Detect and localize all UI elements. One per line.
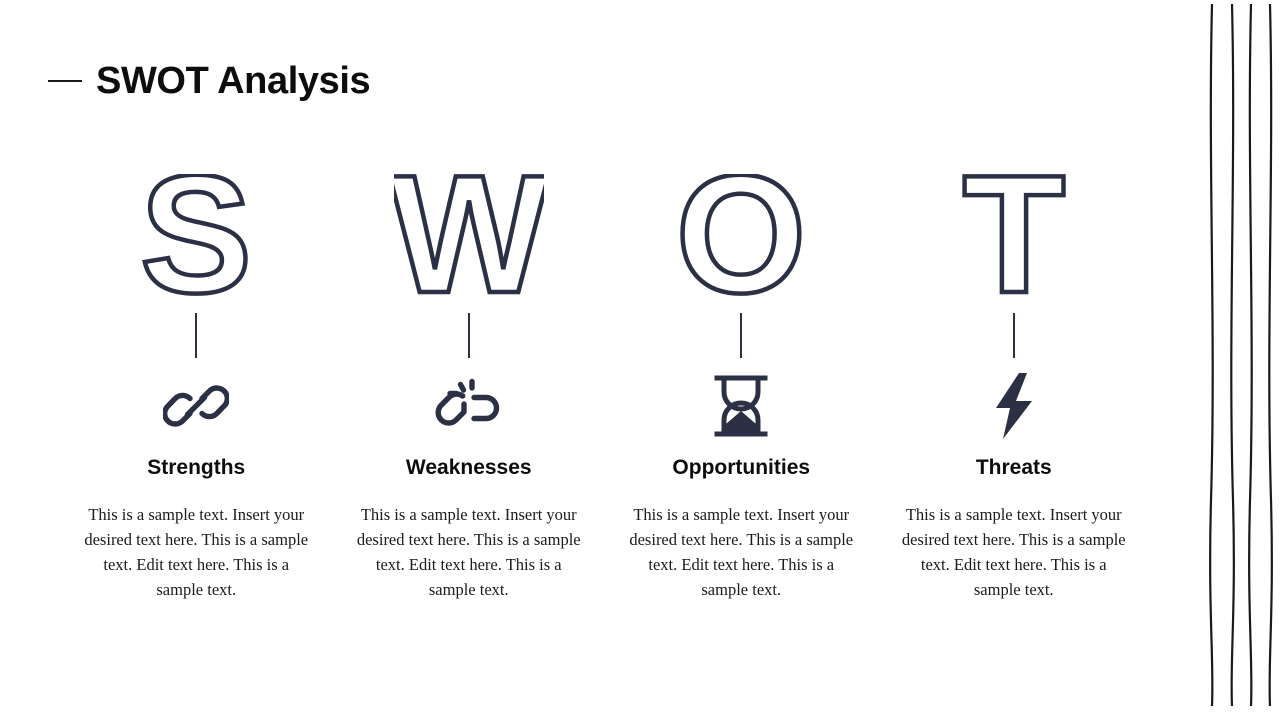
title-dash-decoration — [48, 80, 82, 82]
page-title: SWOT Analysis — [48, 62, 370, 100]
broken-chain-link-icon — [434, 366, 504, 446]
lightning-bolt-icon — [989, 366, 1039, 446]
outline-letter-t: T — [958, 170, 1070, 305]
outline-letter-w: W — [394, 170, 544, 305]
swot-column-strengths[interactable]: S Strengths This is a sample text. Inser… — [60, 170, 333, 602]
column-heading: Threats — [976, 456, 1052, 480]
hourglass-icon — [710, 366, 772, 446]
connector-line — [1013, 313, 1015, 358]
swot-columns: S Strengths This is a sample text. Inser… — [60, 170, 1150, 602]
column-body-text: This is a sample text. Insert your desir… — [355, 502, 583, 602]
svg-text:T: T — [962, 174, 1065, 302]
svg-text:S: S — [140, 174, 252, 302]
connector-line — [195, 313, 197, 358]
column-body-text: This is a sample text. Insert your desir… — [627, 502, 855, 602]
outline-letter-s: S — [137, 170, 255, 305]
column-heading: Strengths — [147, 456, 245, 480]
column-heading: Opportunities — [672, 456, 810, 480]
swot-column-opportunities[interactable]: O Opportunities This is a sample text. I… — [605, 170, 878, 602]
outline-letter-o: O — [675, 170, 807, 305]
swot-column-weaknesses[interactable]: W Weaknesses This is a sample text. Inse… — [333, 170, 606, 602]
edge-wavy-lines-decoration — [1190, 0, 1280, 720]
chain-link-icon — [163, 366, 229, 446]
column-body-text: This is a sample text. Insert your desir… — [900, 502, 1128, 602]
column-body-text: This is a sample text. Insert your desir… — [82, 502, 310, 602]
swot-column-threats[interactable]: T Threats This is a sample text. Insert … — [878, 170, 1151, 602]
page-title-text: SWOT Analysis — [96, 62, 370, 100]
svg-text:W: W — [394, 174, 544, 302]
connector-line — [740, 313, 742, 358]
svg-text:O: O — [676, 174, 807, 302]
connector-line — [468, 313, 470, 358]
column-heading: Weaknesses — [406, 456, 532, 480]
